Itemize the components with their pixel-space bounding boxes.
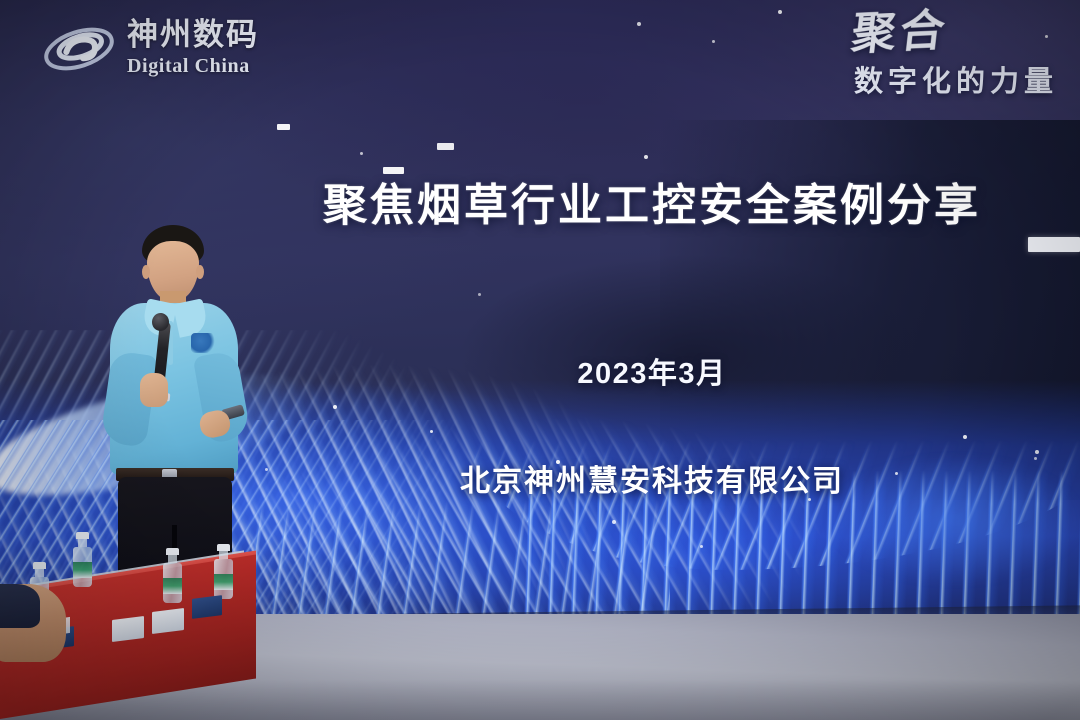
event-slogan: 聚合 数字化的力量 [852,12,1058,100]
slide-company-name: 北京神州慧安科技有限公司 [402,456,902,500]
slogan-brush-text: 聚合 [849,10,950,56]
foreground-person-sleeve [0,584,40,628]
bottle-neck [219,551,228,559]
slide-date: 2023年3月 [452,350,852,392]
bottle-neck [78,539,87,547]
screen-edge-highlight-bar [1028,237,1080,252]
logo-name-en: Digital China [127,54,259,79]
speaker-ear-right [196,265,204,279]
water-bottle [163,548,182,603]
bottle-cap [166,548,179,555]
speaker-shirt-logo [191,333,215,353]
bottle-label [73,562,92,578]
water-bottle [73,532,92,587]
bottle-neck [168,555,177,563]
bottle-cap [217,544,230,551]
digital-china-swirl-icon [40,18,118,80]
speaker-hand-holding-mic [140,373,168,407]
slide-title: 聚焦烟草行业工控安全案例分享 [302,182,1002,230]
conference-photo: 神州数码 Digital China 聚合 数字化的力量 聚焦烟草行业工控安全案… [0,0,1080,720]
water-bottle [214,544,233,599]
logo-name-cn: 神州数码 [127,19,259,50]
bottle-cap [76,532,89,539]
bottle-neck [35,569,44,577]
logo-text-block: 神州数码 Digital China [127,19,259,79]
slogan-sub-text: 数字化的力量 [852,58,1058,100]
bottle-label [163,578,182,594]
speaker-ear-left [142,265,150,279]
bottle-label [214,574,233,590]
name-card [152,608,184,634]
name-card [112,616,144,642]
bottle-cap [33,562,46,569]
name-card [192,595,222,619]
digital-china-logo: 神州数码 Digital China [40,18,259,80]
